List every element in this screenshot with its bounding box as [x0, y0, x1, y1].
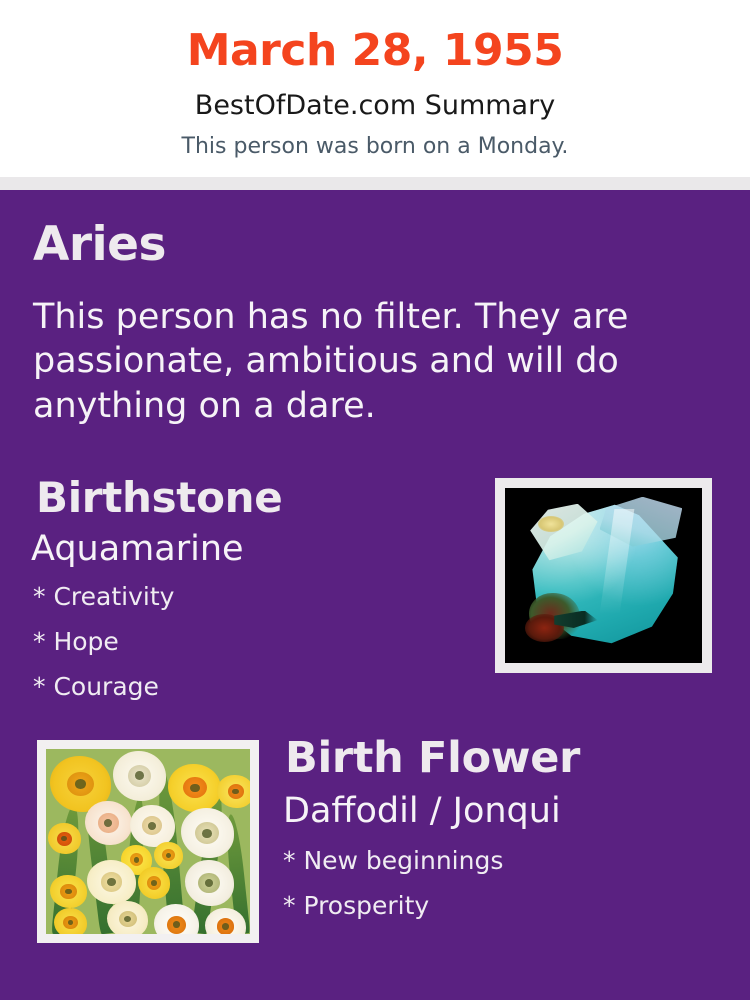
list-item: * Creativity: [33, 584, 174, 609]
site-summary-subtitle: BestOfDate.com Summary: [0, 73, 750, 119]
daffodil-bloom: [85, 801, 132, 845]
card-header: March 28, 1955 BestOfDate.com Summary Th…: [0, 0, 750, 177]
aquamarine-crystal-photo: [505, 488, 702, 663]
page-title: March 28, 1955: [0, 0, 750, 73]
weekday-note: This person was born on a Monday.: [0, 119, 750, 158]
daffodil-bloom: [168, 764, 221, 812]
daffodil-bloom: [50, 875, 87, 908]
daffodil-bloom: [217, 775, 250, 808]
birthstone-heading: Birthstone: [36, 477, 282, 519]
birth-flower-image-frame: [37, 740, 259, 943]
daffodil-bloom: [130, 805, 175, 848]
list-item: * Hope: [33, 629, 174, 654]
birthday-summary-card: March 28, 1955 BestOfDate.com Summary Th…: [0, 0, 750, 1000]
daffodil-bloom: [154, 842, 183, 870]
birthstone-image-frame: [495, 478, 712, 673]
daffodil-flowers-photo: [46, 749, 250, 934]
daffodil-bloom: [181, 808, 234, 858]
birthstone-trait-list: * Creativity * Hope * Courage: [33, 584, 174, 719]
zodiac-sign-name: Aries: [33, 221, 166, 268]
daffodil-bloom: [54, 908, 87, 934]
birth-flower-name: Daffodil / Jonqui: [283, 794, 561, 829]
birth-flower-trait-list: * New beginnings * Prosperity: [283, 848, 503, 938]
daffodil-bloom: [48, 823, 81, 854]
list-item: * New beginnings: [283, 848, 503, 873]
daffodil-bloom: [87, 860, 136, 904]
daffodil-bloom: [113, 751, 166, 801]
list-item: * Prosperity: [283, 893, 503, 918]
details-panel: Aries This person has no filter. They ar…: [0, 190, 750, 1000]
list-item: * Courage: [33, 674, 174, 699]
birthstone-name: Aquamarine: [31, 532, 244, 567]
daffodil-bloom: [138, 867, 171, 898]
daffodil-bloom: [107, 901, 148, 934]
zodiac-description: This person has no filter. They are pass…: [33, 295, 653, 428]
header-divider: [0, 177, 750, 190]
crystal-inclusion-yellow: [538, 516, 564, 532]
daffodil-bloom: [185, 860, 234, 906]
daffodil-bloom: [154, 904, 199, 934]
birth-flower-heading: Birth Flower: [285, 737, 580, 780]
